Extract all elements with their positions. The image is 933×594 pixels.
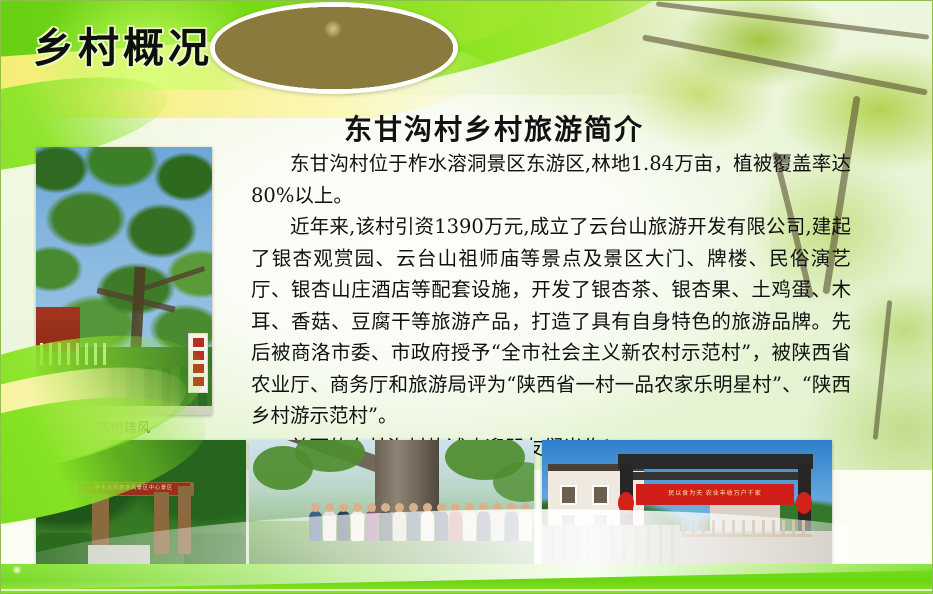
photo-red-banner: 民以食为天 农业丰收万户千家 bbox=[636, 484, 794, 505]
page-title-text: 东甘沟村乡村旅游简介 bbox=[289, 113, 644, 146]
footer-divider-line bbox=[0, 589, 933, 591]
article-body: 东甘沟村位于柞水溶洞景区东游区,林地1.84万亩，植被覆盖率达80%以上。 近年… bbox=[251, 148, 851, 464]
paragraph-2: 近年来,该村引资1390万元,成立了云台山旅游开发有限公司,建起了银杏观赏园、云… bbox=[251, 211, 851, 432]
page-root: 乡村概况 东甘沟村乡村旅游简介 东甘沟村位于柞水溶洞景区东游区,林地1.84万亩… bbox=[0, 0, 933, 594]
ginkgo-fruit-photo bbox=[215, 7, 453, 89]
red-lantern-icon bbox=[796, 492, 812, 514]
banner-title: 乡村概况 bbox=[33, 14, 213, 74]
photo-gate-beam bbox=[618, 454, 813, 469]
page-title: 东甘沟村乡村旅游简介 bbox=[0, 108, 933, 148]
paragraph-1: 东甘沟村位于柞水溶洞景区东游区,林地1.84万亩，植被覆盖率达80%以上。 bbox=[251, 148, 851, 211]
photo-gate-beam-2 bbox=[622, 472, 810, 480]
village-banner-text: 民以食为天 农业丰收万户千家 bbox=[636, 484, 794, 505]
footer-dot-decor bbox=[11, 566, 23, 574]
oval-photo-frame bbox=[210, 2, 458, 94]
